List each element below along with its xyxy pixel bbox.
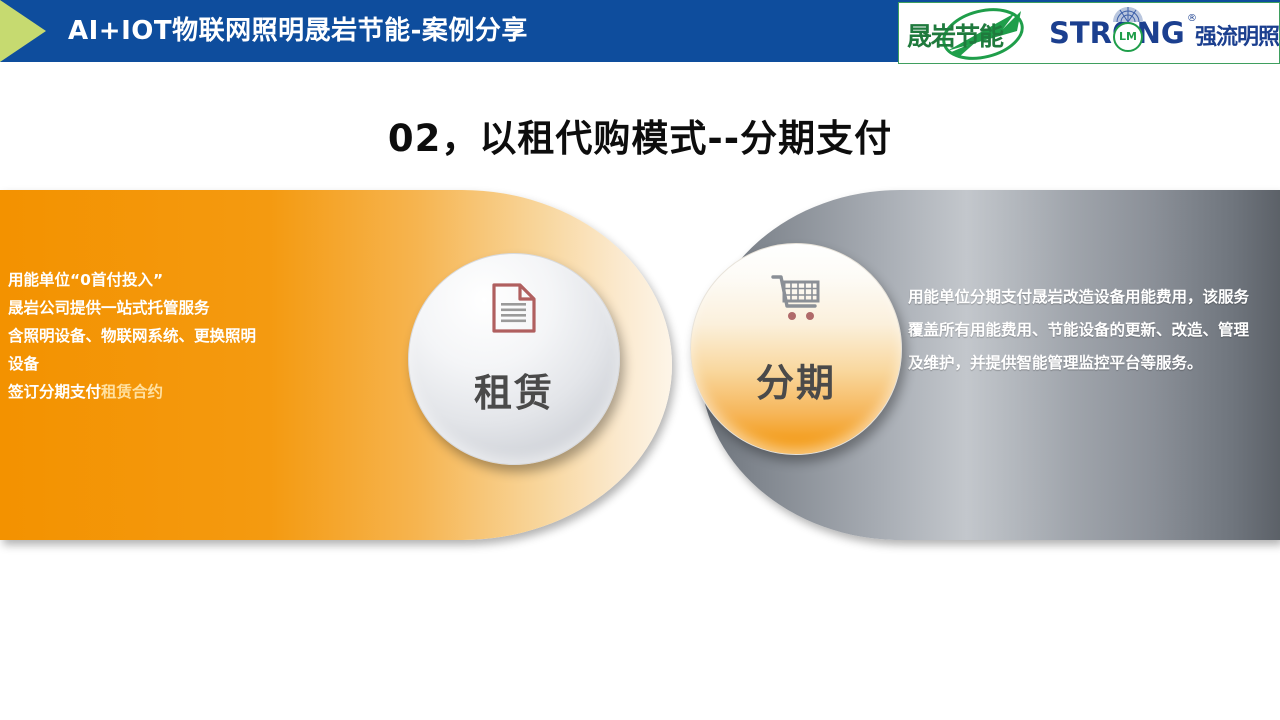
document-icon [409, 282, 619, 339]
logo-brand-cn: 晟岩节能 [907, 17, 1003, 53]
left-panel-highlight: 租赁合约 [101, 383, 163, 401]
left-panel-text: 用能单位“0首付投入” 晟岩公司提供一站式托管服务 含照明设备、物联网系统、更换… [8, 266, 348, 406]
installment-circle[interactable]: 分期 [690, 243, 902, 455]
left-panel-line-4: 设备 [8, 350, 348, 378]
left-panel-line-2: 晟岩公司提供一站式托管服务 [8, 294, 348, 322]
blue-fan-arc-icon [1111, 5, 1145, 23]
left-panel-line-5: 签订分期支付租赁合约 [8, 378, 348, 406]
right-panel-text: 用能单位分期支付晟岩改造设备用能费用，该服务覆盖所有用能费用、节能设备的更新、改… [908, 281, 1258, 380]
header-title: AI+IOT物联网照明晟岩节能-案例分享 [68, 10, 528, 47]
chevron-right-icon [0, 0, 46, 62]
installment-circle-label: 分期 [691, 352, 901, 407]
slide-title: 02，以租代购模式--分期支付 [0, 108, 1280, 162]
left-panel-line-3: 含照明设备、物联网系统、更换照明 [8, 322, 348, 350]
lease-circle[interactable]: 租赁 [408, 253, 620, 465]
logo-brand-cn2: 强流明照明 [1195, 19, 1280, 51]
brand-logo: 晟岩节能 STRONG LM ® 强流明照明 [898, 2, 1280, 64]
logo-lm-badge: LM [1113, 22, 1143, 52]
lease-circle-label: 租赁 [409, 362, 619, 417]
left-panel-line-1: 用能单位“0首付投入” [8, 266, 348, 294]
shopping-cart-icon [691, 272, 901, 329]
